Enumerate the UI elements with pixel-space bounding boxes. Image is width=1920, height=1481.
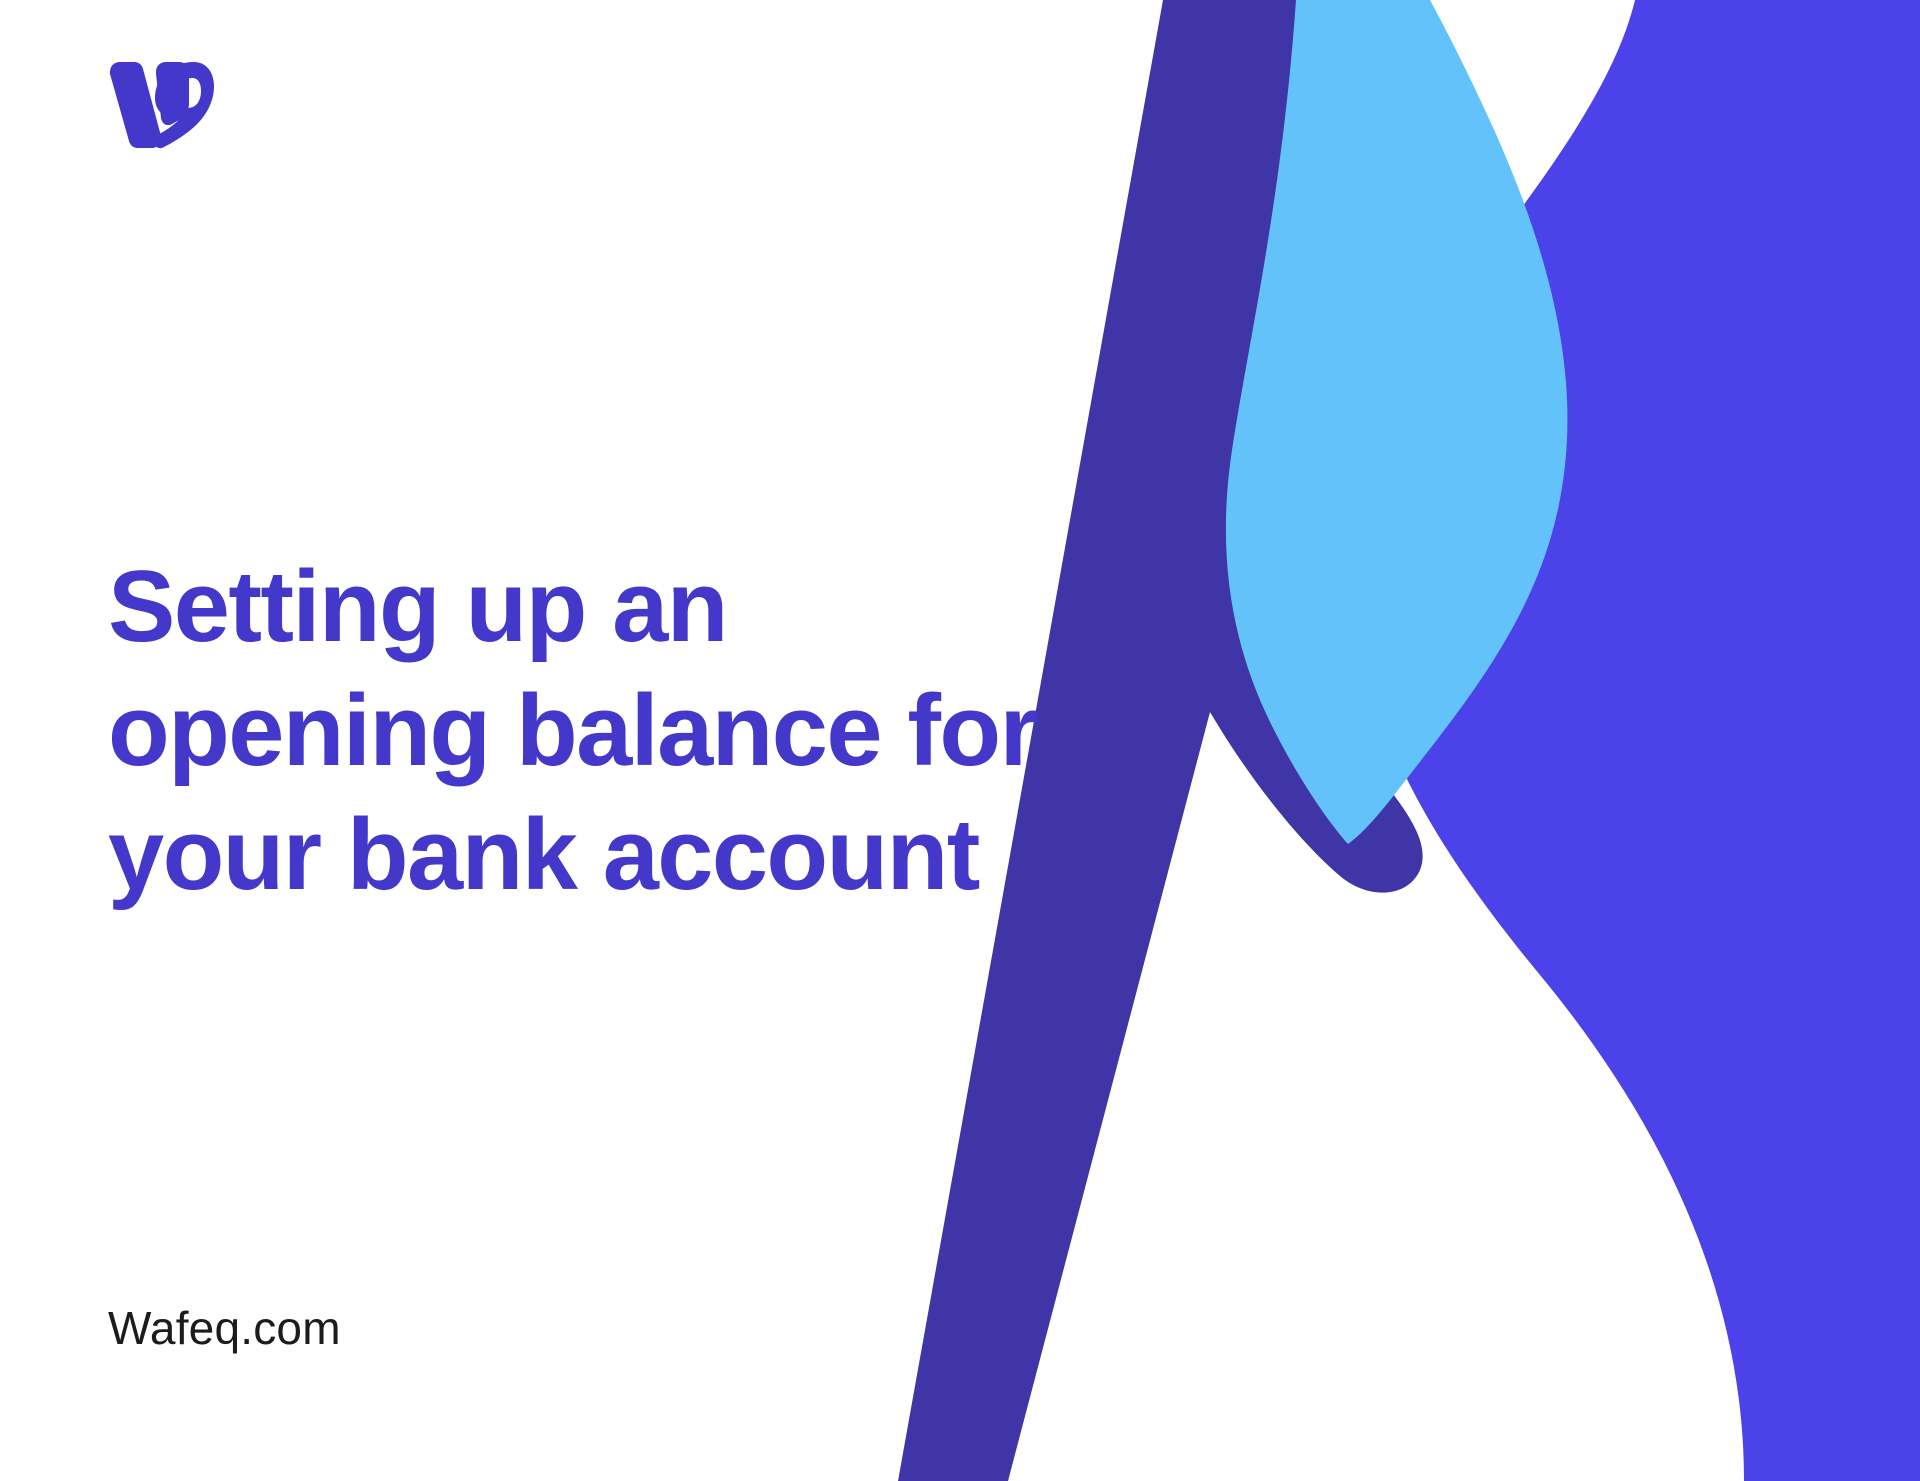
page-title: Setting up an opening balance for your b… — [108, 545, 1228, 917]
light-blue-leaf-shape — [1226, 0, 1568, 844]
title-line-2: opening balance for — [108, 669, 1228, 793]
title-line-3: your bank account — [108, 793, 1228, 917]
title-line-1: Setting up an — [108, 545, 1228, 669]
website-url[interactable]: Wafeq.com — [108, 1300, 341, 1356]
presentation-slide: Setting up an opening balance for your b… — [0, 0, 1920, 1481]
wafeq-w-logo-icon — [104, 60, 216, 160]
wafeq-logo[interactable] — [104, 60, 216, 160]
